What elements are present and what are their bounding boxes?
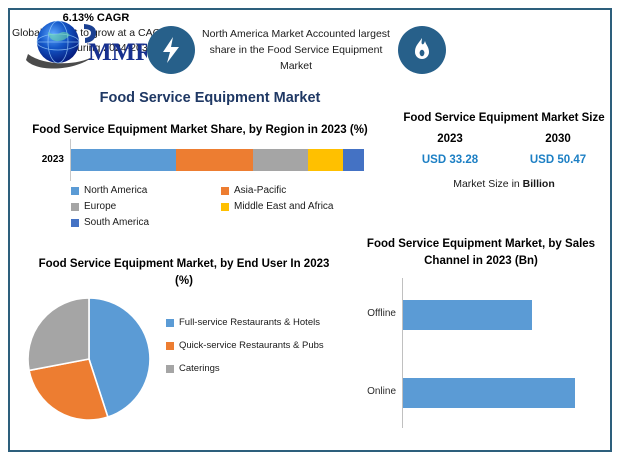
infographic-canvas: MMR North America Market Accounted large… <box>0 0 620 460</box>
region-legend-item: Middle East and Africa <box>221 199 371 214</box>
region-legend-label: Middle East and Africa <box>234 199 334 214</box>
region-category-label: 2023 <box>20 154 64 165</box>
sales-bar-row: Online <box>350 378 612 408</box>
legend-swatch-icon <box>221 187 229 195</box>
pie-slice-2 <box>28 298 89 370</box>
market-size-title: Food Service Equipment Market Size <box>396 110 612 127</box>
region-share-chart: Food Service Equipment Market Share, by … <box>14 122 386 247</box>
region-legend-label: South America <box>84 215 149 230</box>
region-legend-item: North America <box>71 183 221 198</box>
market-size-value-2030: USD 50.47 <box>504 154 612 166</box>
market-size-value-2023: USD 33.28 <box>396 154 504 166</box>
sales-plot-area: OfflineOnline <box>350 278 612 428</box>
region-segment-0 <box>71 149 176 171</box>
sales-category-label: Offline <box>350 308 396 319</box>
legend-swatch-icon <box>166 319 174 327</box>
region-legend: North AmericaAsia-PacificEuropeMiddle Ea… <box>71 183 371 231</box>
lightning-bolt-icon <box>147 26 195 74</box>
end-user-pie <box>26 296 152 422</box>
legend-swatch-icon <box>71 203 79 211</box>
market-size-values-row: USD 33.28 USD 50.47 <box>396 154 612 166</box>
sales-bar-offline <box>403 300 532 330</box>
north-america-note: North America Market Accounted largest s… <box>200 26 392 74</box>
region-segment-2 <box>253 149 309 171</box>
mmr-globe-logo: MMR <box>22 16 147 78</box>
sales-channel-chart-title: Food Service Equipment Market, by Sales … <box>356 236 606 270</box>
region-stacked-bar <box>71 149 364 171</box>
market-size-footer-unit: Billion <box>523 178 555 190</box>
end-user-legend-item: Caterings <box>166 362 346 376</box>
region-chart-title: Food Service Equipment Market Share, by … <box>20 122 380 139</box>
flame-icon <box>398 26 446 74</box>
region-legend-item: South America <box>71 215 221 230</box>
region-plot-area: 2023 <box>14 145 386 179</box>
market-size-footer: Market Size in Billion <box>396 178 612 190</box>
page-title: Food Service Equipment Market <box>20 90 400 106</box>
sales-bar-online <box>403 378 575 408</box>
sales-category-label: Online <box>350 386 396 397</box>
market-size-year-2030: 2030 <box>504 133 612 145</box>
region-segment-4 <box>343 149 364 171</box>
sales-channel-chart: Food Service Equipment Market, by Sales … <box>350 236 612 446</box>
region-segment-1 <box>176 149 252 171</box>
market-size-year-2023: 2023 <box>396 133 504 145</box>
legend-swatch-icon <box>166 342 174 350</box>
end-user-legend-label: Full-service Restaurants & Hotels <box>179 316 320 330</box>
region-legend-label: Europe <box>84 199 116 214</box>
end-user-chart: Food Service Equipment Market, by End Us… <box>14 256 354 451</box>
end-user-legend-label: Quick-service Restaurants & Pubs <box>179 339 324 353</box>
region-legend-item: Asia-Pacific <box>221 183 371 198</box>
legend-swatch-icon <box>71 187 79 195</box>
end-user-legend-label: Caterings <box>179 362 220 376</box>
market-size-footer-prefix: Market Size in <box>453 178 522 190</box>
region-legend-label: North America <box>84 183 147 198</box>
legend-swatch-icon <box>71 219 79 227</box>
header-band: MMR North America Market Accounted large… <box>10 10 610 90</box>
end-user-chart-title: Food Service Equipment Market, by End Us… <box>34 256 334 290</box>
region-legend-label: Asia-Pacific <box>234 183 286 198</box>
legend-swatch-icon <box>221 203 229 211</box>
sales-bar-row: Offline <box>350 300 612 330</box>
end-user-legend: Full-service Restaurants & HotelsQuick-s… <box>166 316 346 385</box>
logo-text: MMR <box>88 39 147 66</box>
market-size-panel: Food Service Equipment Market Size 2023 … <box>396 110 612 190</box>
legend-swatch-icon <box>166 365 174 373</box>
end-user-legend-item: Quick-service Restaurants & Pubs <box>166 339 346 353</box>
region-legend-item: Europe <box>71 199 221 214</box>
market-size-years-row: 2023 2030 <box>396 133 612 145</box>
end-user-legend-item: Full-service Restaurants & Hotels <box>166 316 346 330</box>
region-segment-3 <box>308 149 343 171</box>
